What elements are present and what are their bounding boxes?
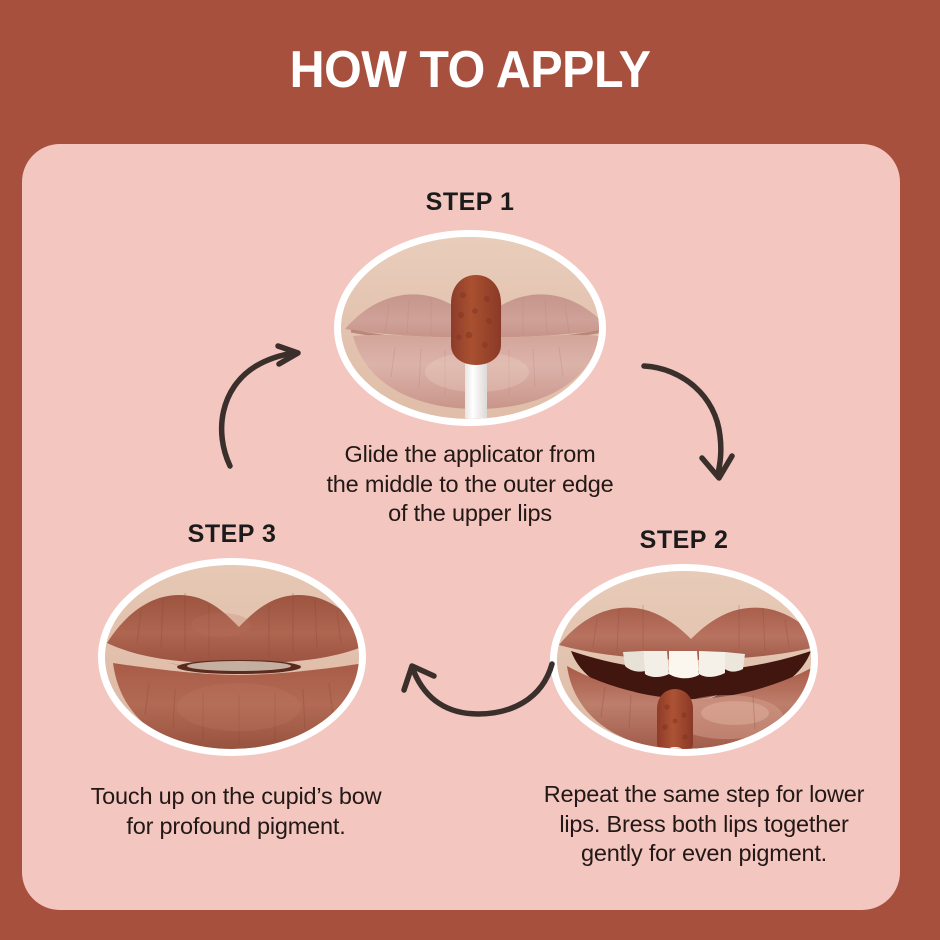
step-1-photo (334, 230, 606, 426)
step-2-caption-line-2: lips. Bress both lips together (504, 810, 904, 840)
step-1-caption: Glide the applicator from the middle to … (270, 440, 670, 529)
step-2-label: STEP 2 (640, 526, 729, 555)
arrow-step2-to-step3 (392, 652, 562, 732)
step-2-caption: Repeat the same step for lower lips. Bre… (504, 780, 904, 869)
arrow-step3-to-step1 (210, 344, 320, 474)
step-3-photo (98, 558, 366, 756)
step-1-caption-line-1: Glide the applicator from (270, 440, 670, 470)
step-2-photo (550, 564, 818, 756)
step-1-label: STEP 1 (426, 188, 515, 217)
step-3-caption-line-1: Touch up on the cupid’s bow (36, 782, 436, 812)
step-3-caption-line-2: for profound pigment. (36, 812, 436, 842)
page-title: HOW TO APPLY (33, 44, 907, 96)
step-3-label: STEP 3 (188, 520, 277, 549)
step-1-caption-line-2: the middle to the outer edge (270, 470, 670, 500)
step-1-caption-line-3: of the upper lips (270, 499, 670, 529)
arrow-step1-to-step2 (634, 356, 744, 486)
step-3-lips-illustration (105, 565, 359, 749)
step-2-caption-line-3: gently for even pigment. (504, 839, 904, 869)
step-2-lips-illustration (557, 571, 811, 749)
step-1-lips-illustration (341, 237, 599, 419)
step-3-caption: Touch up on the cupid’s bow for profound… (36, 782, 436, 841)
step-2-caption-line-1: Repeat the same step for lower (504, 780, 904, 810)
content-panel: STEP 1 (22, 144, 900, 910)
how-to-apply-infographic: HOW TO APPLY STEP 1 (0, 0, 940, 940)
